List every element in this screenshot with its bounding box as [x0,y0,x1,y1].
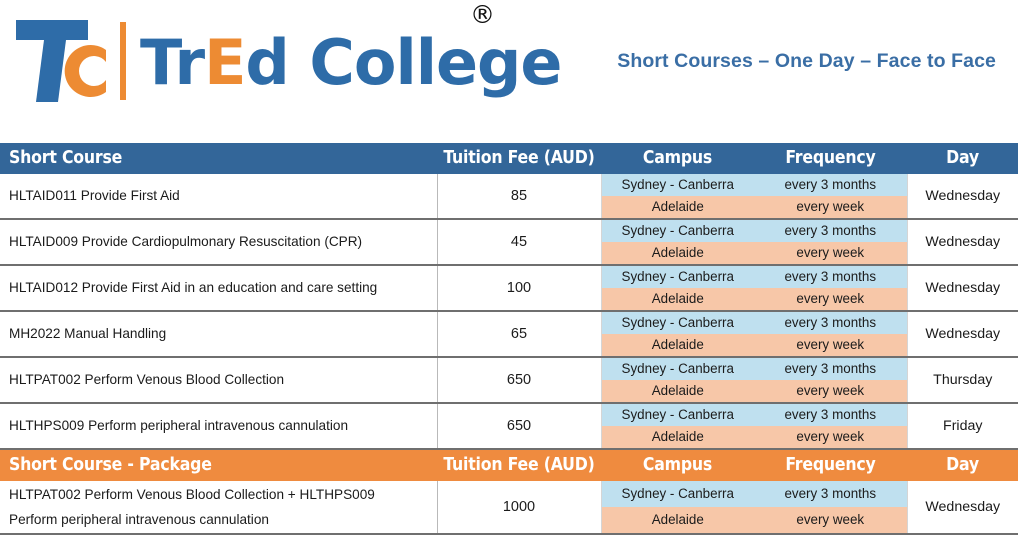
cell-frequency: every 3 months [754,403,907,426]
page-title: Short Courses – One Day – Face to Face [617,50,996,73]
cell-day: Wednesday [907,311,1018,357]
cell-campus: Sydney - Canberra [601,403,754,426]
cell-fee: 650 [437,357,601,403]
column-header-frequency: Frequency [754,143,907,174]
column-header-tuition-fee: Tuition Fee (AUD) [437,143,601,174]
cell-frequency: every 3 months [754,219,907,242]
package-column-header-frequency: Frequency [754,449,907,481]
cell-fee: 1000 [437,481,601,534]
cell-course-package-line-2: Perform peripheral intravenous cannulati… [9,507,436,532]
course-schedule-table-zone: Short Course Tuition Fee (AUD) Campus Fr… [0,143,1024,535]
cell-fee: 45 [437,219,601,265]
column-header-campus: Campus [601,143,754,174]
table-row[interactable]: HLTHPS009 Perform peripheral intravenous… [0,403,1018,426]
course-schedule-table: Short Course Tuition Fee (AUD) Campus Fr… [0,143,1018,535]
cell-campus: Adelaide [601,426,754,449]
package-table-row[interactable]: HLTPAT002 Perform Venous Blood Collectio… [0,481,1018,507]
cell-frequency: every week [754,288,907,311]
cell-course: MH2022 Manual Handling [0,311,437,357]
brand-wordmark: TrEd College [140,32,561,94]
table-row[interactable]: HLTAID011 Provide First Aid 85 Sydney - … [0,174,1018,196]
cell-day: Wednesday [907,174,1018,219]
cell-fee: 650 [437,403,601,449]
cell-campus: Sydney - Canberra [601,481,754,507]
column-header-day: Day [907,143,1018,174]
column-header-short-course: Short Course [0,143,437,174]
package-header-row: Short Course - Package Tuition Fee (AUD)… [0,449,1018,481]
cell-campus: Sydney - Canberra [601,265,754,288]
cell-frequency: every week [754,507,907,534]
cell-campus: Adelaide [601,196,754,219]
table-row[interactable]: HLTAID009 Provide Cardiopulmonary Resusc… [0,219,1018,242]
cell-frequency: every 3 months [754,311,907,334]
wordmark-part-1: Tr [140,26,204,99]
cell-frequency: every 3 months [754,481,907,507]
cell-frequency: every 3 months [754,265,907,288]
cell-campus: Sydney - Canberra [601,357,754,380]
cell-day: Wednesday [907,219,1018,265]
package-column-header-campus: Campus [601,449,754,481]
wordmark-part-2: E [204,26,245,99]
cell-course-package: HLTPAT002 Perform Venous Blood Collectio… [0,481,437,534]
table-row[interactable]: HLTAID012 Provide First Aid in an educat… [0,265,1018,288]
cell-frequency: every week [754,380,907,403]
cell-frequency: every 3 months [754,357,907,380]
cell-frequency: every week [754,426,907,449]
cell-fee: 65 [437,311,601,357]
cell-campus: Sydney - Canberra [601,219,754,242]
cell-campus: Sydney - Canberra [601,174,754,196]
table-row[interactable]: HLTPAT002 Perform Venous Blood Collectio… [0,357,1018,380]
cell-day: Thursday [907,357,1018,403]
package-column-header-day: Day [907,449,1018,481]
table-row[interactable]: MH2022 Manual Handling 65 Sydney - Canbe… [0,311,1018,334]
cell-day: Wednesday [907,481,1018,534]
cell-campus: Sydney - Canberra [601,311,754,334]
package-column-header-short-course: Short Course - Package [0,449,437,481]
cell-campus: Adelaide [601,507,754,534]
cell-day: Friday [907,403,1018,449]
cell-course-package-line-1: HLTPAT002 Perform Venous Blood Collectio… [9,482,436,507]
cell-campus: Adelaide [601,380,754,403]
cell-day: Wednesday [907,265,1018,311]
cell-frequency: every week [754,334,907,357]
package-column-header-tuition-fee: Tuition Fee (AUD) [437,449,601,481]
cell-course: HLTAID012 Provide First Aid in an educat… [0,265,437,311]
registered-trademark-icon: ® [470,2,495,27]
cell-course: HLTAID011 Provide First Aid [0,174,437,219]
wordmark-part-3: d College [245,26,561,99]
cell-frequency: every week [754,242,907,265]
logo-divider [120,22,126,100]
cell-campus: Adelaide [601,242,754,265]
table-header-row: Short Course Tuition Fee (AUD) Campus Fr… [0,143,1018,174]
cell-fee: 85 [437,174,601,219]
cell-frequency: every 3 months [754,174,907,196]
cell-fee: 100 [437,265,601,311]
cell-course: HLTPAT002 Perform Venous Blood Collectio… [0,357,437,403]
cell-frequency: every week [754,196,907,219]
page-header: TrEd College ® Short Courses – One Day –… [0,0,1024,132]
cell-course: HLTAID009 Provide Cardiopulmonary Resusc… [0,219,437,265]
cell-campus: Adelaide [601,288,754,311]
cell-course: HLTHPS009 Perform peripheral intravenous… [0,403,437,449]
tc-monogram-icon [14,16,118,104]
cell-campus: Adelaide [601,334,754,357]
